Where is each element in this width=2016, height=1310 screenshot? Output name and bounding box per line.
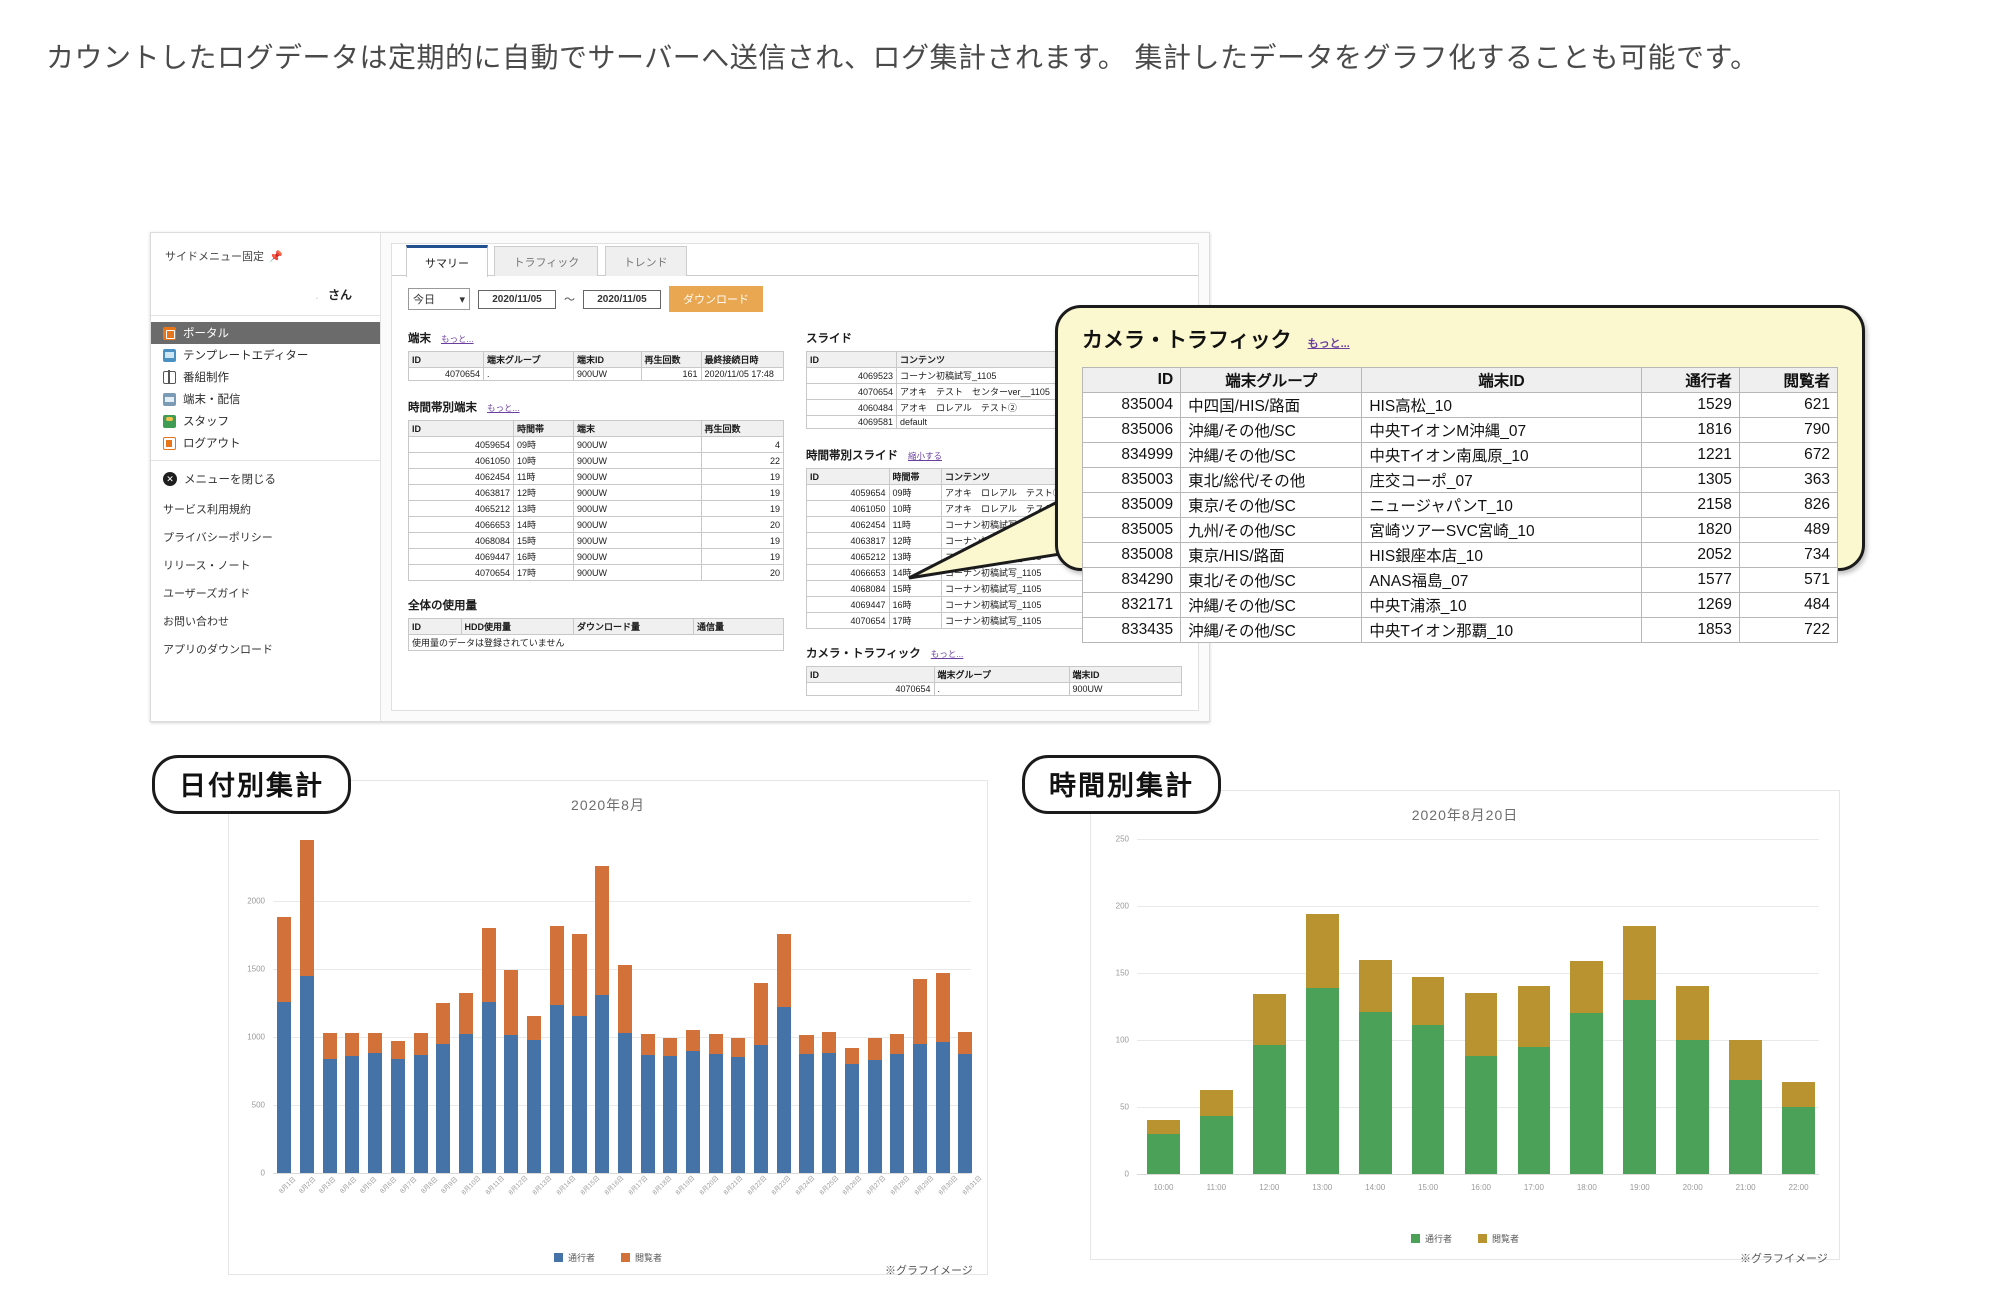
bar-segment-閲覧者 [799,1035,813,1054]
cell-group: . [484,368,574,381]
bar-slot [1190,839,1243,1174]
callout-title: カメラ・トラフィック [1082,324,1292,354]
bar-segment-閲覧者 [1676,986,1709,1040]
bar-slot [1507,839,1560,1174]
download-button[interactable]: ダウンロード [669,286,763,312]
bar-slot [682,833,705,1173]
sidebar-item-program-production[interactable]: 番組制作 [151,366,380,388]
cell-0: 4063817 [409,485,514,501]
x-axis-tick: 10:00 [1137,1183,1190,1192]
cell-3: 4 [701,437,784,453]
col-0: ID [807,352,897,368]
table-header-row: ID 端末グループ 端末ID [807,667,1182,683]
bar-segment-閲覧者 [731,1038,745,1057]
x-axis-tick: 12:00 [1243,1183,1296,1192]
cell-0: 4061050 [409,453,514,469]
cell-2: 宮崎ツアーSVC宮崎_10 [1362,518,1641,543]
shrink-link[interactable]: 縮小する [908,450,942,462]
bar-slot [659,833,682,1173]
sidebar-link-users-guide[interactable]: ユーザーズガイド [163,579,380,607]
stacked-bar[interactable] [436,1003,450,1173]
table-row: 使用量のデータは登録されていません [409,635,784,651]
cell-2: 900UW [574,469,702,485]
table-row[interactable]: 835009東京/その他/SCニュージャパンT_102158826 [1083,493,1838,518]
x-axis-tick: 8月12日 [506,1173,530,1197]
stacked-bar[interactable] [1465,993,1498,1174]
bar-slot [863,833,886,1173]
cell-0: 4069447 [409,549,514,565]
sidebar-user: . さん [151,264,380,316]
x-axis-tick: 8月27日 [864,1173,888,1197]
x-axis-tick: 8月13日 [530,1173,554,1197]
x-axis-tick: 8月18日 [649,1173,673,1197]
bar-segment-閲覧者 [913,979,927,1044]
sidebar-item-label: 端末・配信 [183,391,241,407]
stacked-bar[interactable] [1200,1090,1233,1174]
device-table: ID 端末グループ 端末ID 再生回数 最終接続日時 4070654 . 900… [408,351,784,381]
bar-segment-閲覧者 [368,1033,382,1053]
table-row[interactable]: 835003東北/総代/その他庄交コーポ_071305363 [1083,468,1838,493]
sidebar-link-terms[interactable]: サービス利用規約 [163,495,380,523]
bar-segment-閲覧者 [709,1034,723,1054]
stacked-bar[interactable] [822,1032,836,1173]
x-axis-tick: 8月29日 [911,1173,935,1197]
bar-segment-閲覧者 [1465,993,1498,1056]
col-group: 端末グループ [934,667,1069,683]
stacked-bar[interactable] [300,840,314,1173]
bar-segment-閲覧者 [1306,914,1339,988]
col-hdd: HDD使用量 [461,619,574,635]
legend-swatch [1411,1234,1420,1243]
bar-segment-通行者 [958,1054,972,1173]
sidebar-pin-label: サイドメニュー固定 [165,248,264,264]
section-title: 端末 [408,330,431,346]
y-axis-tick: 200 [1099,902,1129,911]
cell-3: 1269 [1641,593,1739,618]
bar-segment-閲覧者 [777,934,791,1007]
stacked-bar[interactable] [1570,961,1603,1174]
cell-4: 734 [1739,543,1837,568]
stacked-bar[interactable] [1518,986,1551,1174]
x-axis-tick: 8月30日 [935,1173,959,1197]
cell-1: 16時 [514,549,574,565]
bar-segment-通行者 [1676,1040,1709,1174]
section-head-device: 端末 もっと... [408,330,784,346]
stacked-bar[interactable] [890,1034,904,1173]
app-screenshot-panel: サイドメニュー固定 📌 . さん ポータル テンプレートエディター 番組制作 [150,232,1210,722]
legend-item-通行者[interactable]: 通行者 [554,1251,595,1264]
camera-traffic-callout: カメラ・トラフィック もっと... ID端末グループ端末ID通行者閲覧者8350… [1055,305,1865,571]
bar-slot [455,833,478,1173]
stacked-bar[interactable] [277,917,291,1173]
stacked-bar[interactable] [1253,994,1286,1174]
bar-slot [1772,839,1825,1174]
stacked-bar[interactable] [368,1033,382,1173]
hourly-chart-xaxis: 10:0011:0012:0013:0014:0015:0016:0017:00… [1137,1183,1825,1192]
x-axis-tick: 21:00 [1719,1183,1772,1192]
x-axis-tick: 8月21日 [721,1173,745,1197]
col-3: 再生回数 [701,421,784,437]
legend-item-閲覧者[interactable]: 閲覧者 [1478,1232,1519,1245]
chevron-down-icon: ▾ [459,293,465,306]
cell-2: 中央TイオンM沖縄_07 [1362,418,1641,443]
y-axis-tick: 100 [1099,1036,1129,1045]
tab-trend[interactable]: トレンド [605,246,687,276]
sidebar-pin-toggle[interactable]: サイドメニュー固定 📌 [151,245,380,264]
x-axis-tick: 8月9日 [438,1174,459,1195]
cell-4: 484 [1739,593,1837,618]
table-row[interactable]: 406808415時900UW19 [409,533,784,549]
sidebar-nav: ポータル テンプレートエディター 番組制作 端末・配信 スタッフ ログアウト [151,316,380,461]
cell-2: 900UW [574,549,702,565]
cell-3: 1529 [1641,393,1739,418]
cell-2: ニュージャパンT_10 [1362,493,1641,518]
bar-slot [545,833,568,1173]
bar-slot [1455,839,1508,1174]
cell-2: 900UW [574,453,702,469]
y-axis-tick: 2000 [235,897,265,906]
cell-0: 835008 [1083,543,1181,568]
x-axis-tick: 13:00 [1296,1183,1349,1192]
x-axis-tick: 8月28日 [888,1173,912,1197]
sidebar-link-privacy[interactable]: プライバシーポリシー [163,523,380,551]
cell-0: 4065212 [807,549,890,565]
bar-segment-通行者 [482,1002,496,1173]
legend-item-閲覧者[interactable]: 閲覧者 [621,1251,662,1264]
table-row[interactable]: 406665314時900UW20 [409,517,784,533]
hourly-chart-note: ※グラフイメージ [1740,1250,1828,1266]
bar-segment-通行者 [1412,1025,1445,1174]
stacked-bar[interactable] [958,1032,972,1173]
col-4: 閲覧者 [1739,368,1837,393]
cell-3: 1221 [1641,443,1739,468]
cell-0: 4069523 [807,368,897,384]
callout-more-link[interactable]: もっと... [1308,335,1350,351]
x-axis-tick: 8月3日 [316,1174,337,1195]
period-select-value: 今日 [413,291,435,307]
cell-1: 17時 [889,613,942,629]
cell-2: HIS高松_10 [1362,393,1641,418]
cell-3: 2158 [1641,493,1739,518]
callout-title-row: カメラ・トラフィック もっと... [1082,324,1838,354]
program-production-icon [163,371,176,384]
table-row[interactable]: 4070654 . 900UW [807,683,1182,696]
stacked-bar[interactable] [1623,926,1656,1174]
stacked-bar[interactable] [323,1033,337,1173]
section-head-camera-traffic: カメラ・トラフィック もっと... [806,645,1182,661]
stacked-bar[interactable] [459,993,473,1173]
stacked-bar[interactable] [527,1016,541,1173]
cell-3: 22 [701,453,784,469]
cell-3: 19 [701,469,784,485]
cell-3: 20 [701,517,784,533]
y-axis-tick: 0 [1099,1170,1129,1179]
bar-segment-通行者 [686,1051,700,1173]
sidebar-item-template-editor[interactable]: テンプレートエディター [151,344,380,366]
cell-1: 13時 [514,501,574,517]
col-2: 端末 [574,421,702,437]
cell-2: HIS銀座本店_10 [1362,543,1641,568]
more-link[interactable]: もっと... [487,402,520,414]
bar-segment-通行者 [1359,1012,1392,1174]
template-editor-icon [163,349,176,362]
bar-segment-閲覧者 [845,1048,859,1065]
bar-segment-通行者 [527,1040,541,1173]
tab-summary[interactable]: サマリー [406,245,488,277]
x-axis-tick: 11:00 [1190,1183,1243,1192]
tab-traffic[interactable]: トラフィック [494,246,598,276]
bar-slot [1560,839,1613,1174]
date-from-input[interactable]: 2020/11/05 [478,290,556,309]
bar-segment-閲覧者 [277,917,291,1002]
table-row[interactable]: 405965409時900UW4 [409,437,784,453]
sidebar-link-contact[interactable]: お問い合わせ [163,607,380,635]
cell-0: 835009 [1083,493,1181,518]
bar-segment-通行者 [799,1054,813,1173]
stacked-bar[interactable] [504,970,518,1173]
usage-empty-message: 使用量のデータは登録されていません [409,635,784,651]
cell-0: 835006 [1083,418,1181,443]
sidebar-link-app-download[interactable]: アプリのダウンロード [163,635,380,663]
cell-4: 826 [1739,493,1837,518]
daily-chart-legend: 通行者閲覧者 [229,1251,987,1264]
bar-segment-閲覧者 [641,1034,655,1055]
bar-segment-閲覧者 [391,1041,405,1059]
stacked-bar[interactable] [799,1035,813,1173]
y-axis-tick: 0 [235,1169,265,1178]
bar-segment-通行者 [845,1064,859,1173]
stacked-bar[interactable] [641,1034,655,1173]
bar-segment-閲覧者 [1518,986,1551,1046]
sidebar-item-logout[interactable]: ログアウト [151,432,380,454]
sidebar-close-menu[interactable]: ✕ メニューを閉じる [163,469,380,495]
bar-segment-閲覧者 [414,1033,428,1055]
cell-2: ANAS福島_07 [1362,568,1641,593]
bar-slot [591,833,614,1173]
stacked-bar[interactable] [550,926,564,1173]
badge-daily-aggregation: 日付別集計 [152,755,351,814]
user-name-masked: . [269,288,325,302]
y-axis-tick: 500 [235,1101,265,1110]
cell-1: 15時 [514,533,574,549]
cell-1: 16時 [889,597,942,613]
cell-1: 沖縄/その他/SC [1181,618,1362,643]
cell-1: 東京/その他/SC [1181,493,1362,518]
bar-slot [931,833,954,1173]
cell-2: 900UW [574,501,702,517]
bar-segment-通行者 [1253,1045,1286,1174]
bar-segment-閲覧者 [1412,977,1445,1025]
page-headline: カウントしたログデータは定期的に自動でサーバーへ送信され、ログ集計されます。 集… [46,36,1759,76]
more-link[interactable]: もっと... [931,648,964,660]
pin-icon: 📌 [269,250,283,263]
cell-0: 832171 [1083,593,1181,618]
staff-icon [163,415,176,428]
x-axis-tick: 18:00 [1560,1183,1613,1192]
legend-item-通行者[interactable]: 通行者 [1411,1232,1452,1245]
cell-device-id: 900UW [574,368,642,381]
stacked-bar[interactable] [731,1038,745,1173]
stacked-bar[interactable] [345,1033,359,1173]
table-row[interactable]: 835006沖縄/その他/SC中央TイオンM沖縄_071816790 [1083,418,1838,443]
bar-segment-通行者 [368,1053,382,1173]
table-row[interactable]: 835008東京/HIS/路面HIS銀座本店_102052734 [1083,543,1838,568]
col-id: ID [409,352,484,368]
stacked-bar[interactable] [1782,1082,1815,1174]
date-to-input[interactable]: 2020/11/05 [583,290,661,309]
table-row[interactable]: 833435沖縄/その他/SC中央Tイオン那覇_101853722 [1083,618,1838,643]
table-row[interactable]: 832171沖縄/その他/SC中央T浦添_101269484 [1083,593,1838,618]
stacked-bar[interactable] [1729,1040,1762,1174]
bar-slot [1666,839,1719,1174]
stacked-bar[interactable] [709,1034,723,1173]
x-axis-tick: 8月24日 [792,1173,816,1197]
cell-0: 4068084 [807,581,890,597]
x-axis-tick: 20:00 [1666,1183,1719,1192]
sidebar-item-label: ログアウト [183,435,241,451]
stacked-bar[interactable] [618,965,632,1173]
bar-slot [523,833,546,1173]
sidebar-link-release-note[interactable]: リリース・ノート [163,551,380,579]
x-axis-tick: 8月16日 [601,1173,625,1197]
cell-0: 4061050 [807,501,890,517]
bar-segment-閲覧者 [323,1033,337,1059]
stacked-bar[interactable] [754,983,768,1173]
x-axis-tick: 8月4日 [337,1174,358,1195]
sidebar-item-staff[interactable]: スタッフ [151,410,380,432]
table-row[interactable]: 406105010時900UW22 [409,453,784,469]
stacked-bar[interactable] [663,1038,677,1173]
col-traffic: 通信量 [694,619,784,635]
section-title: スライド [806,330,852,346]
bar-segment-閲覧者 [1623,926,1656,1000]
stacked-bar[interactable] [1412,977,1445,1174]
bar-segment-閲覧者 [595,866,609,995]
table-row[interactable]: 406521213時900UW19 [409,501,784,517]
bar-segment-通行者 [641,1055,655,1173]
stacked-bar[interactable] [913,979,927,1173]
col-download: ダウンロード量 [574,619,694,635]
cell-0: 4066653 [409,517,514,533]
x-axis-tick: 15:00 [1402,1183,1455,1192]
stacked-bar[interactable] [777,934,791,1173]
bar-slot [704,833,727,1173]
stacked-bar[interactable] [482,928,496,1173]
stacked-bar[interactable] [572,934,586,1173]
table-row[interactable]: 406944716時900UW19 [409,549,784,565]
usage-table: ID HDD使用量 ダウンロード量 通信量 使用量のデータは登録されていません [408,618,784,651]
table-row[interactable]: 4070654 . 900UW 161 2020/11/05 17:48 [409,368,784,381]
sidebar-close-label: メニューを閉じる [184,471,276,487]
bar-segment-通行者 [868,1060,882,1173]
bar-slot [614,833,637,1173]
x-axis-tick: 8月8日 [418,1174,439,1195]
bar-slot [341,833,364,1173]
bar-segment-閲覧者 [482,928,496,1001]
cell-0: 835003 [1083,468,1181,493]
cell-id: 4070654 [409,368,484,381]
table-row[interactable]: 835005九州/その他/SC宮崎ツアーSVC宮崎_101820489 [1083,518,1838,543]
period-select[interactable]: 今日 ▾ [408,288,470,310]
bar-slot [795,833,818,1173]
cell-1: 14時 [514,517,574,533]
table-row[interactable]: 406381712時900UW19 [409,485,784,501]
cell-3: 1820 [1641,518,1739,543]
table-row[interactable]: 834999沖縄/その他/SC中央Tイオン南風原_101221672 [1083,443,1838,468]
x-axis-tick: 8月10日 [459,1173,483,1197]
table-row[interactable]: 406245411時900UW19 [409,469,784,485]
x-axis-tick: 22:00 [1772,1183,1825,1192]
stacked-bar[interactable] [595,866,609,1173]
sidebar-item-portal[interactable]: ポータル [151,322,380,344]
bar-segment-通行者 [1782,1107,1815,1174]
section-head-usage: 全体の使用量 [408,597,784,613]
bar-segment-通行者 [1465,1056,1498,1174]
bar-segment-閲覧者 [572,934,586,1016]
cell-4: 363 [1739,468,1837,493]
col-device-id: 端末ID [574,352,642,368]
stacked-bar[interactable] [1676,986,1709,1174]
hourly-chart-plot: 050100150200250 [1137,839,1825,1174]
bar-slot [1402,839,1455,1174]
stacked-bar[interactable] [1147,1120,1180,1174]
bar-segment-通行者 [300,976,314,1173]
stacked-bar[interactable] [936,973,950,1173]
x-axis-tick: 8月14日 [554,1173,578,1197]
stacked-bar[interactable] [1306,914,1339,1174]
cell-0: 4068084 [409,533,514,549]
x-axis-line [1137,1174,1819,1175]
section-title: 全体の使用量 [408,597,477,613]
legend-swatch [621,1253,630,1262]
sidebar-item-device-delivery[interactable]: 端末・配信 [151,388,380,410]
more-link[interactable]: もっと... [441,333,474,345]
cell-4: 621 [1739,393,1837,418]
bar-segment-通行者 [277,1002,291,1173]
cell-0: 835004 [1083,393,1181,418]
table-row[interactable]: 834290東北/その他/SCANAS福島_071577571 [1083,568,1838,593]
table-header-row: ID端末グループ端末ID通行者閲覧者 [1083,368,1838,393]
bar-segment-閲覧者 [1729,1040,1762,1080]
table-row[interactable]: 835004中四国/HIS/路面HIS高松_101529621 [1083,393,1838,418]
stacked-bar[interactable] [391,1041,405,1173]
sidebar-item-label: テンプレートエディター [183,347,308,363]
bar-segment-閲覧者 [1570,961,1603,1013]
table-row[interactable]: 407065417時900UW20 [409,565,784,581]
bar-segment-通行者 [822,1053,836,1173]
stacked-bar[interactable] [868,1038,882,1173]
stacked-bar[interactable] [686,1030,700,1173]
y-axis-tick: 50 [1099,1103,1129,1112]
cell-1: 15時 [889,581,942,597]
bar-segment-通行者 [1729,1080,1762,1174]
stacked-bar[interactable] [1359,960,1392,1174]
cell-1: 09時 [514,437,574,453]
bar-segment-閲覧者 [1147,1120,1180,1133]
cell-3: 2052 [1641,543,1739,568]
bar-segment-閲覧者 [822,1032,836,1053]
bar-segment-閲覧者 [527,1016,541,1040]
table-header-row: ID HDD使用量 ダウンロード量 通信量 [409,619,784,635]
stacked-bar[interactable] [414,1033,428,1173]
bar-segment-通行者 [391,1059,405,1173]
col-3: 通行者 [1641,368,1739,393]
bar-segment-通行者 [414,1055,428,1173]
cell-0: 4062454 [807,517,890,533]
stacked-bar[interactable] [845,1048,859,1173]
bar-slot [1243,839,1296,1174]
bar-segment-閲覧者 [1200,1090,1233,1117]
